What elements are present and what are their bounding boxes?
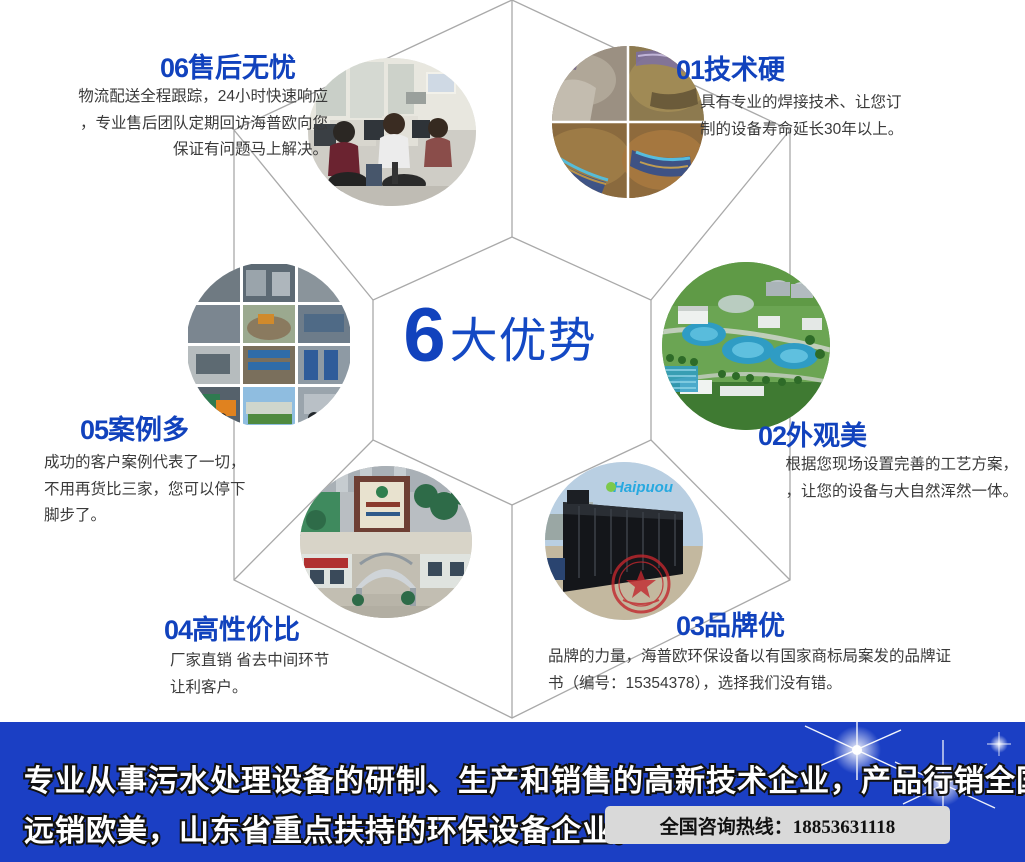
banner-headline-line-2: 远销欧美，山东省重点扶持的环保设备企业。 [24,806,644,850]
center-title: 6大优势 [355,292,645,379]
hotline-text: 全国咨询热线：18853631118 [660,812,895,839]
advantage-body-01-line-2: 制的设备寿命延长30年以上。 [700,117,1010,144]
advantage-label-04: 高性价比 [192,615,300,645]
advantage-body-02: 根据您现场设置完善的工艺方案， ，让您的设备与大自然浑然一体。 [718,452,1018,505]
center-word: 大优势 [450,315,597,368]
advantage-label-02: 外观美 [786,421,867,451]
advantage-body-03: 品牌的力量，海普欧环保设备以有国家商标局案发的品牌证 书（编号：15354378… [548,644,1018,697]
treatment-plant-photo [662,262,830,430]
infographic-root: 6大优势 [0,0,1025,862]
advantage-body-02-line-2: ，让您的设备与大自然浑然一体。 [718,479,1018,506]
advantage-body-01: 具有专业的焊接技术、让您订 制的设备寿命延长30年以上。 [700,90,1010,143]
banner-headline-line-1: 专业从事污水处理设备的研制、生产和销售的高新技术企业，产品行销全国并 [24,756,1025,800]
advantage-body-06-line-2: ，专业售后团队定期回访海普欧向您 [28,111,328,138]
advantage-title-01: 01技术硬 [676,48,785,87]
advantage-body-05-line-1: 成功的客户案例代表了一切， [44,450,344,477]
center-number: 6 [403,293,443,378]
advantage-body-02-line-1: 根据您现场设置完善的工艺方案， [718,452,1018,479]
advantage-number-05: 05 [80,415,108,445]
advantage-number-04: 04 [164,615,192,645]
advantage-body-03-line-2: 书（编号：15354378），选择我们没有错。 [548,671,1018,698]
advantage-body-06: 物流配送全程跟踪，24小时快速响应 ，专业售后团队定期回访海普欧向您 保证有问题… [28,84,328,164]
advantage-number-01: 01 [676,55,704,85]
advantage-body-05-line-3: 脚步了。 [44,503,344,530]
advantage-number-06: 06 [160,53,188,83]
advantage-body-04-line-1: 厂家直销 省去中间环节 [170,648,470,675]
advantage-title-02: 02外观美 [758,414,867,453]
equipment-brand-photo: Haipuou [545,462,703,620]
advantage-number-03: 03 [676,611,704,641]
advantage-label-01: 技术硬 [704,55,785,85]
advantage-title-03: 03品牌优 [676,604,785,643]
hotline-box[interactable]: 全国咨询热线：18853631118 [605,806,950,844]
advantage-body-04-line-2: 让利客户。 [170,675,470,702]
svg-text:Haipuou: Haipuou [613,479,673,496]
advantage-label-05: 案例多 [108,415,189,445]
office-team-photo [308,58,476,206]
advantage-body-04: 厂家直销 省去中间环节 让利客户。 [170,648,470,701]
advantage-body-01-line-1: 具有专业的焊接技术、让您订 [700,90,1010,117]
advantage-body-05: 成功的客户案例代表了一切， 不用再货比三家，您可以停下 脚步了。 [44,450,344,530]
advantage-body-05-line-2: 不用再货比三家，您可以停下 [44,477,344,504]
advantage-number-02: 02 [758,421,786,451]
advantage-body-06-line-3: 保证有问题马上解决。 [28,137,328,164]
advantage-title-05: 05案例多 [80,408,189,447]
advantage-label-06: 售后无忧 [188,53,296,83]
case-collage-photo [186,262,352,428]
advantage-title-06: 06售后无忧 [160,46,296,85]
advantage-label-03: 品牌优 [704,611,785,641]
advantage-title-04: 04高性价比 [164,608,300,647]
advantage-body-06-line-1: 物流配送全程跟踪，24小时快速响应 [28,84,328,111]
advantage-body-03-line-1: 品牌的力量，海普欧环保设备以有国家商标局案发的品牌证 [548,644,1018,671]
